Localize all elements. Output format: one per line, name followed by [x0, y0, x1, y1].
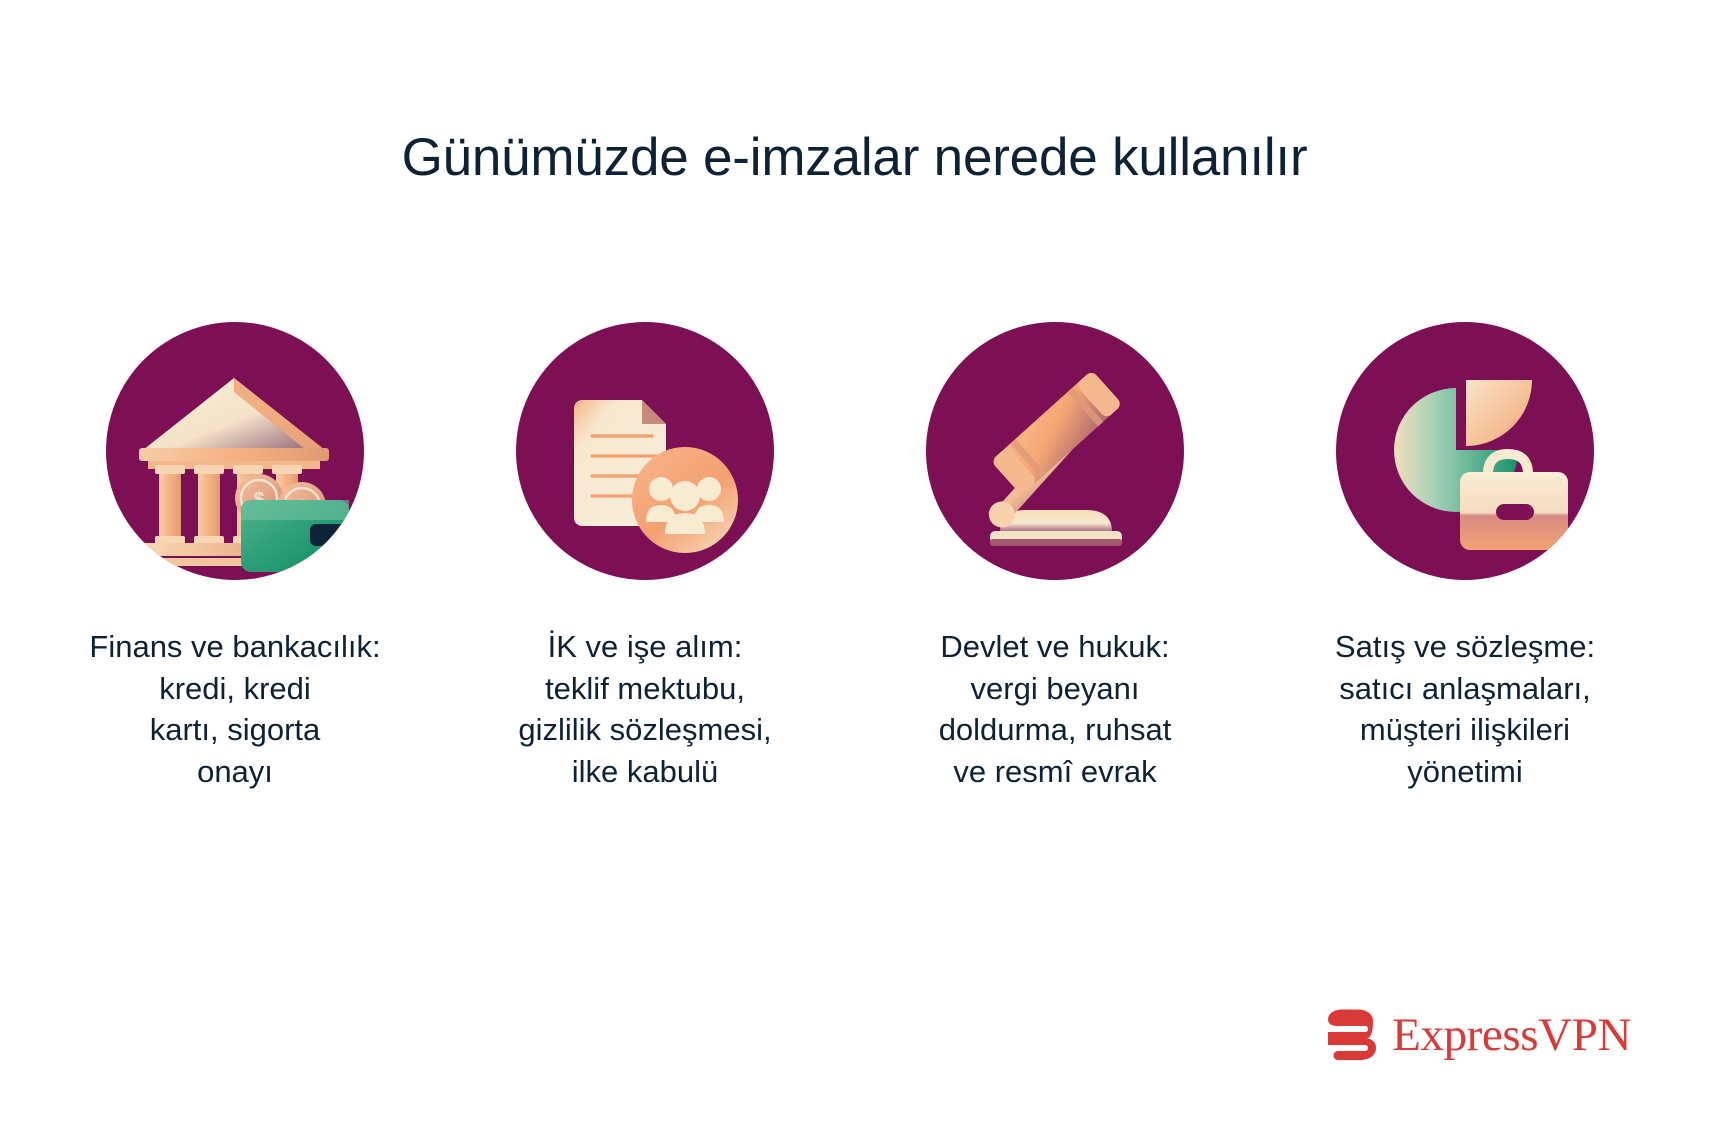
card-finance: $ $ Finans ve bankacılık: kredi, kredi k…	[70, 322, 400, 792]
icon-circle-finance: $ $	[106, 322, 364, 580]
expressvpn-e-logo-icon	[1326, 1007, 1378, 1063]
document-people-icon	[516, 322, 774, 580]
logo-wordmark: ExpressVPN	[1392, 1012, 1631, 1059]
card-law: Devlet ve hukuk: vergi beyanı doldurma, …	[890, 322, 1220, 792]
page-title: Günümüzde e-imzalar nerede kullanılır	[0, 126, 1709, 190]
expressvpn-logo: ExpressVPN	[1326, 1007, 1631, 1063]
card-hr: İK ve işe alım: teklif mektubu, gizlilik…	[480, 322, 810, 792]
card-caption: Devlet ve hukuk: vergi beyanı doldurma, …	[890, 626, 1220, 792]
card-caption: Finans ve bankacılık: kredi, kredi kartı…	[65, 626, 405, 792]
infographic-page: Günümüzde e-imzalar nerede kullanılır	[0, 0, 1709, 1121]
gavel-icon	[926, 322, 1184, 580]
icon-circle-sales	[1336, 322, 1594, 580]
icon-circle-hr	[516, 322, 774, 580]
card-caption: İK ve işe alım: teklif mektubu, gizlilik…	[480, 626, 810, 792]
icon-circle-law	[926, 322, 1184, 580]
bank-wallet-coins-icon: $ $	[106, 322, 364, 580]
card-caption: Satış ve sözleşme: satıcı anlaşmaları, m…	[1290, 626, 1640, 792]
card-row: $ $ Finans ve bankacılık: kredi, kredi k…	[70, 322, 1630, 792]
pie-chart-briefcase-icon	[1336, 322, 1594, 580]
card-sales: Satış ve sözleşme: satıcı anlaşmaları, m…	[1300, 322, 1630, 792]
